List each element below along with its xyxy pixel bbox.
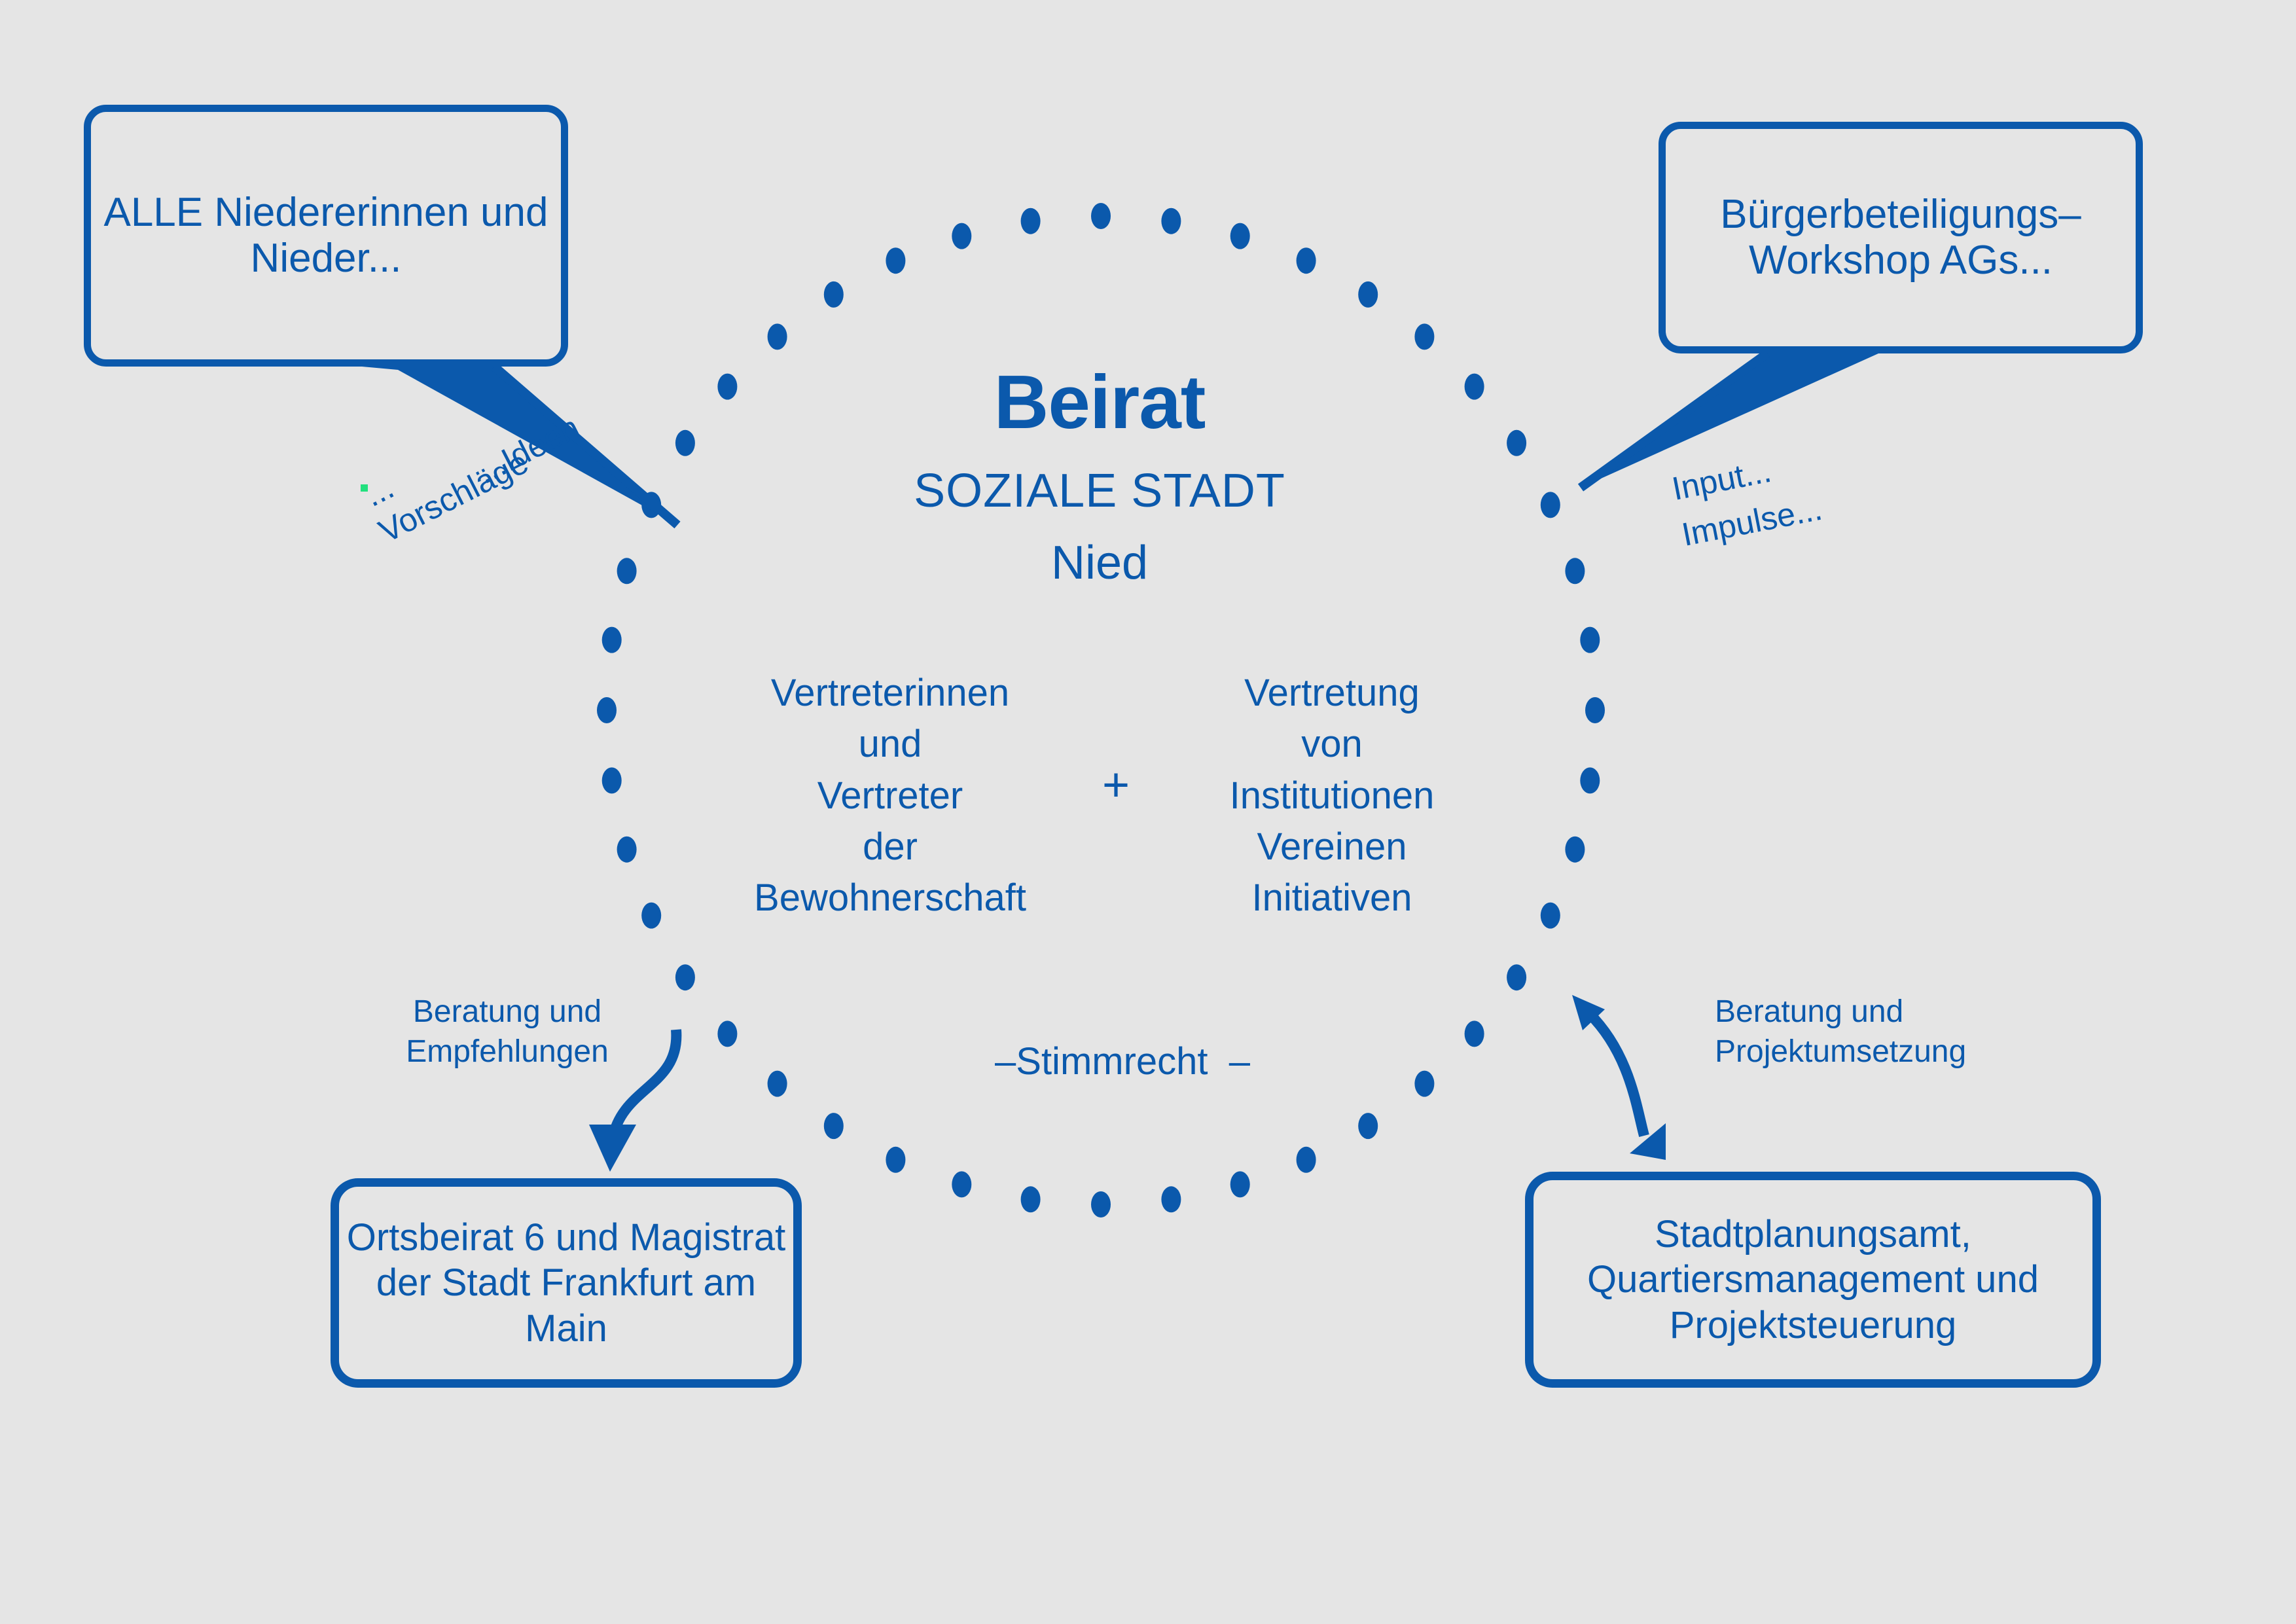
circle-dot (1465, 1020, 1484, 1047)
circle-dot (675, 964, 695, 990)
circle-dot (1580, 627, 1600, 653)
green-square-marker (361, 484, 368, 492)
center-location: Nied (1051, 537, 1148, 590)
circle-dot (641, 903, 661, 929)
box-ortsbeirat-magistrat[interactable]: Ortsbeirat 6 und Magistrat der Stadt Fra… (331, 1178, 802, 1388)
circle-dot (768, 1071, 787, 1097)
circle-dot (602, 767, 622, 793)
circle-dot (768, 323, 787, 350)
circle-dot (617, 558, 637, 584)
circle-dot (1091, 1191, 1111, 1218)
circle-dot (1230, 223, 1250, 249)
box-ortsbeirat-magistrat-text: Ortsbeirat 6 und Magistrat der Stadt Fra… (339, 1215, 793, 1352)
circle-dot (641, 492, 661, 518)
right-arrow-label: Beratung und Projektumsetzung (1715, 992, 1966, 1072)
circle-dot (824, 1113, 844, 1139)
circle-dot (1414, 323, 1434, 350)
right-arrow-head-up (1572, 995, 1605, 1030)
circle-dot (1161, 1186, 1181, 1212)
plus-sign: + (1102, 759, 1130, 812)
members-column-residents: Vertreterinnen und Vertreter der Bewohne… (754, 668, 1026, 924)
speech-bubble-left-text: ALLE Niedererinnen und Nieder... (91, 190, 561, 281)
circle-dot (1161, 208, 1181, 234)
circle-dot (1565, 837, 1585, 863)
circle-dot (717, 1020, 737, 1047)
speech-bubble-left[interactable]: ALLE Niedererinnen und Nieder... (84, 105, 568, 367)
box-stadtplanungsamt-text: Stadtplanungsamt, Quartiersmanagement un… (1534, 1212, 2092, 1348)
circle-dot (1507, 964, 1526, 990)
annotation-input: Input... (1669, 452, 1774, 507)
circle-dot (1021, 208, 1041, 234)
circle-dot (1565, 558, 1585, 584)
circle-dot (886, 247, 905, 274)
circle-dot (824, 281, 844, 308)
voting-note: –Stimmrecht – (995, 1041, 1250, 1083)
circle-dot (886, 1147, 905, 1173)
circle-dot (1021, 1186, 1041, 1212)
left-arrow-curve (613, 1030, 676, 1139)
members-column-institutions: Vertretung von Institutionen Vereinen In… (1230, 668, 1435, 924)
circle-dot (952, 223, 971, 249)
box-stadtplanungsamt[interactable]: Stadtplanungsamt, Quartiersmanagement un… (1525, 1172, 2101, 1388)
circle-dot (1358, 1113, 1378, 1139)
speech-bubble-right[interactable]: Bürgerbeteiligungs– Workshop AGs... (1659, 122, 2143, 353)
circle-dot (1541, 492, 1560, 518)
circle-dot (597, 697, 617, 723)
right-arrow-curve (1589, 1013, 1644, 1136)
circle-dot (1414, 1071, 1434, 1097)
center-subtitle: SOZIALE STADT (914, 465, 1285, 518)
circle-dot (952, 1171, 971, 1197)
circle-dot (1507, 430, 1526, 456)
circle-dot (1358, 281, 1378, 308)
center-title: Beirat (994, 360, 1206, 445)
circle-dot (1465, 374, 1484, 400)
circle-dot (1580, 767, 1600, 793)
diagram-canvas: ALLE Niedererinnen und Nieder... Bürgerb… (0, 0, 2296, 1624)
circle-dot (1541, 903, 1560, 929)
speech-bubble-right-text: Bürgerbeteiligungs– Workshop AGs... (1666, 192, 2136, 283)
right-arrow-head-down (1630, 1123, 1666, 1160)
circle-dot (1091, 203, 1111, 229)
left-arrow-head (589, 1125, 636, 1172)
circle-dot (1585, 697, 1605, 723)
circle-dot (1297, 247, 1316, 274)
circle-dot (675, 430, 695, 456)
circle-dot (602, 627, 622, 653)
circle-dot (717, 374, 737, 400)
circle-dot (1297, 1147, 1316, 1173)
left-arrow-label: Beratung und Empfehlungen (406, 992, 609, 1072)
circle-dot (1230, 1171, 1250, 1197)
circle-dot (617, 837, 637, 863)
